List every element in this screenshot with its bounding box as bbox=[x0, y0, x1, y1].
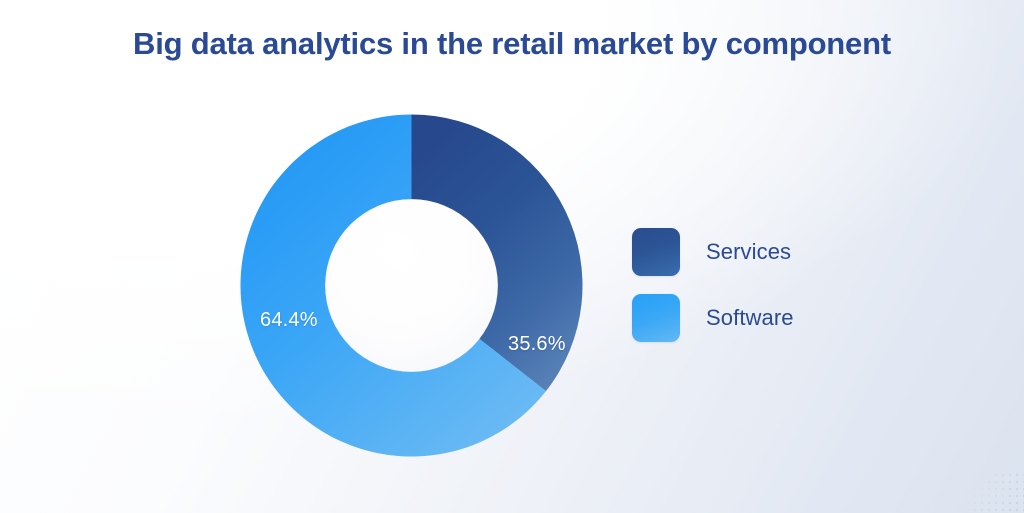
legend-swatch-software-icon bbox=[632, 294, 680, 342]
legend-label-software: Software bbox=[706, 305, 794, 331]
chart-legend: Services Software bbox=[632, 228, 794, 342]
legend-swatch-services-icon bbox=[632, 228, 680, 276]
donut-chart: 35.6% 64.4% bbox=[240, 114, 583, 457]
donut-svg bbox=[240, 114, 583, 457]
corner-watermark-texture bbox=[938, 473, 1024, 513]
donut-label-services: 35.6% bbox=[508, 333, 566, 356]
legend-item-services[interactable]: Services bbox=[632, 228, 794, 276]
donut-hole bbox=[325, 199, 498, 372]
donut-label-software: 64.4% bbox=[260, 309, 318, 332]
legend-item-software[interactable]: Software bbox=[632, 294, 794, 342]
chart-canvas: Big data analytics in the retail market … bbox=[0, 0, 1024, 513]
legend-label-services: Services bbox=[706, 239, 791, 265]
chart-title: Big data analytics in the retail market … bbox=[0, 26, 1024, 62]
